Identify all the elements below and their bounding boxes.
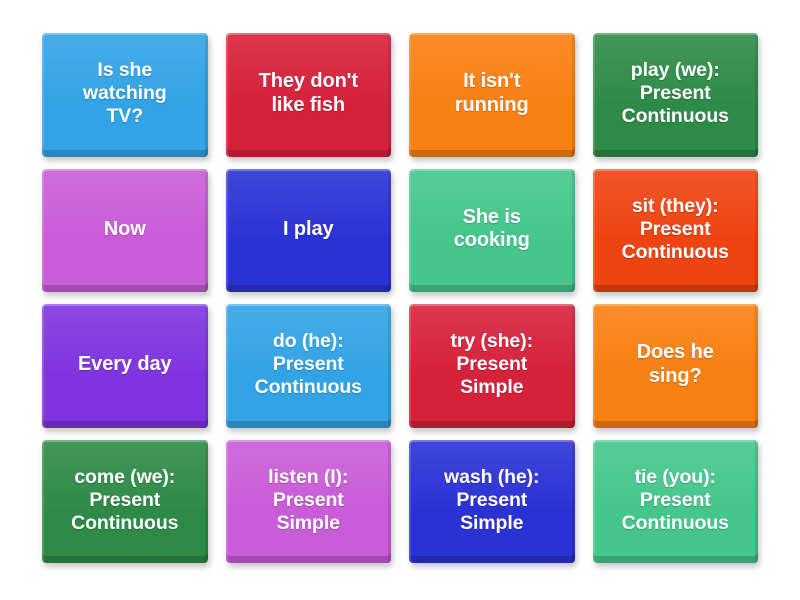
tile-3[interactable]: It isn't running	[409, 33, 575, 157]
tile-label: come (we): Present Continuous	[71, 466, 178, 535]
tile-15[interactable]: wash (he): Present Simple	[409, 440, 575, 564]
tile-label: I play	[283, 218, 334, 241]
tile-5[interactable]: Now	[42, 169, 208, 293]
tile-label: She is cooking	[454, 206, 530, 253]
tile-10[interactable]: do (he): Present Continuous	[226, 304, 392, 428]
tile-1[interactable]: Is she watching TV?	[42, 33, 208, 157]
tile-11[interactable]: try (she): Present Simple	[409, 304, 575, 428]
tile-9[interactable]: Every day	[42, 304, 208, 428]
tile-4[interactable]: play (we): Present Continuous	[593, 33, 759, 157]
tile-grid: Is she watching TV?They don't like fishI…	[0, 0, 800, 600]
tile-label: listen (I): Present Simple	[268, 466, 348, 535]
tile-7[interactable]: She is cooking	[409, 169, 575, 293]
tile-label: wash (he): Present Simple	[444, 466, 539, 535]
tile-2[interactable]: They don't like fish	[226, 33, 392, 157]
tile-label: tie (you): Present Continuous	[622, 466, 729, 535]
tile-16[interactable]: tie (you): Present Continuous	[593, 440, 759, 564]
tile-6[interactable]: I play	[226, 169, 392, 293]
tile-8[interactable]: sit (they): Present Continuous	[593, 169, 759, 293]
tile-label: sit (they): Present Continuous	[622, 195, 729, 264]
tile-label: Now	[104, 218, 146, 241]
tile-label: Every day	[78, 353, 172, 376]
tile-label: Does he sing?	[637, 341, 714, 388]
tile-label: It isn't running	[455, 70, 529, 117]
tile-12[interactable]: Does he sing?	[593, 304, 759, 428]
tile-label: Is she watching TV?	[83, 59, 167, 128]
tile-label: try (she): Present Simple	[451, 330, 533, 399]
tile-label: do (he): Present Continuous	[255, 330, 362, 399]
tile-14[interactable]: listen (I): Present Simple	[226, 440, 392, 564]
tile-label: play (we): Present Continuous	[622, 59, 729, 128]
tile-label: They don't like fish	[259, 70, 358, 117]
tile-13[interactable]: come (we): Present Continuous	[42, 440, 208, 564]
